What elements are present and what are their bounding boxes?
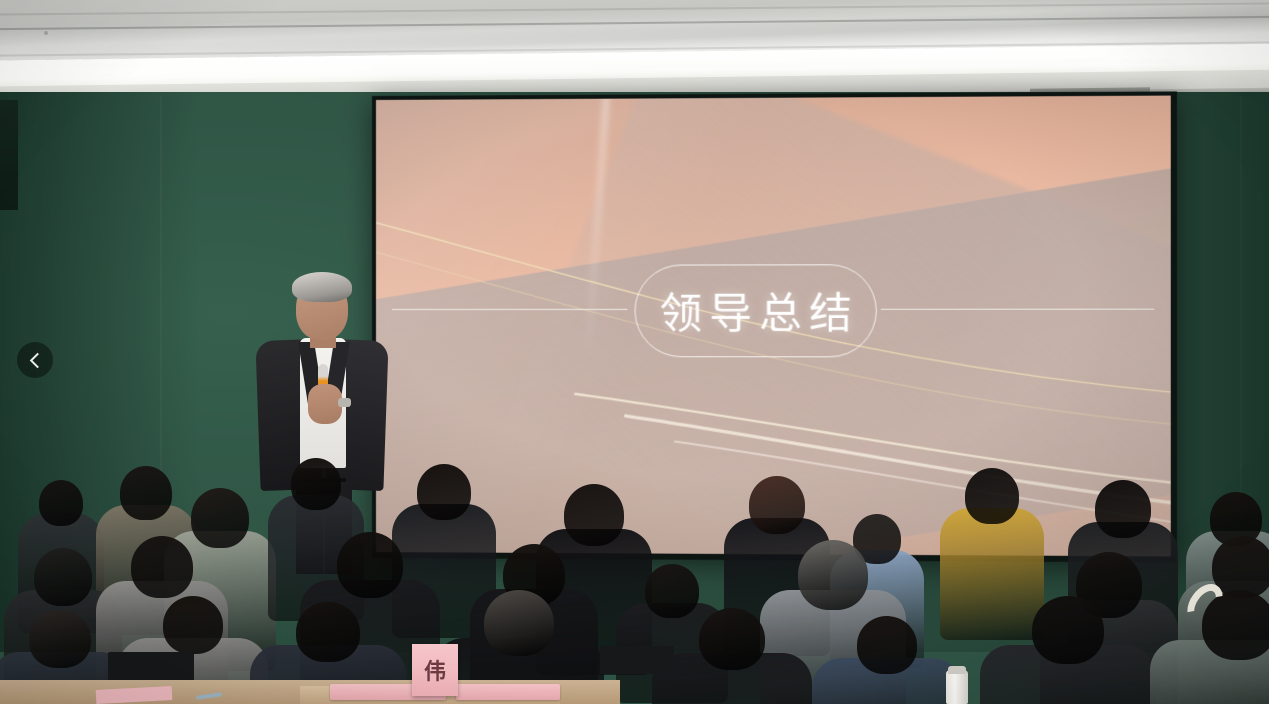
slide-accent-rule-right (881, 309, 1154, 310)
slide-accent-rule-left (392, 309, 627, 310)
white-headband (1180, 577, 1230, 630)
screenshot-stage: 领导总结 伟 (0, 0, 1269, 704)
foreground-props: 伟 (0, 440, 1269, 704)
previous-button[interactable] (17, 342, 53, 378)
name-placard (456, 684, 560, 700)
name-placard-text: 伟 (424, 654, 446, 686)
chevron-left-icon (29, 352, 45, 368)
ceiling-fixture-dot (44, 31, 48, 35)
presenter-wristwatch (338, 398, 351, 407)
name-placard-front: 伟 (412, 644, 458, 696)
water-bottle (946, 670, 968, 704)
slide-title: 领导总结 (653, 280, 860, 342)
presenter-hair (292, 272, 352, 302)
water-bottle-cap (948, 666, 966, 674)
door-jamb (0, 100, 18, 210)
presenter-hands (308, 384, 342, 424)
laptop (600, 646, 674, 674)
slide-title-pill: 领导总结 (635, 264, 877, 357)
